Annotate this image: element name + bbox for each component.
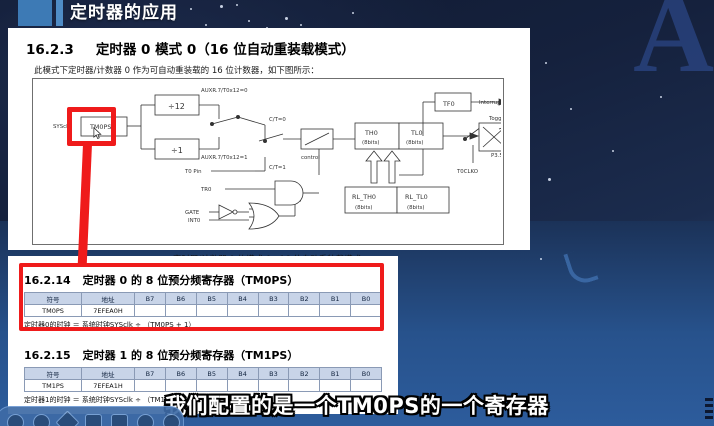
svg-text:(8bits): (8bits) [355, 205, 372, 211]
svg-text:(8bits): (8bits) [362, 140, 379, 146]
record-icon[interactable] [7, 414, 24, 426]
svg-text:T0CLKO: T0CLKO [456, 169, 478, 175]
screen-capture: A 定时器的应用 16.2.3定时器 0 模式 0（16 位自动重装载模式） 此… [0, 0, 714, 426]
svg-text:÷12: ÷12 [168, 102, 185, 111]
svg-text:T0 Pin: T0 Pin [184, 169, 201, 175]
marker-icon[interactable] [55, 410, 79, 426]
col-b1: B1 [320, 368, 351, 380]
svg-text:RL_TH0: RL_TH0 [352, 193, 376, 201]
svg-text:TL0: TL0 [410, 129, 423, 137]
diagram-svg: SYSclk TM0PS ÷12 ÷1 AUXR.7/T0x12=0 AUXR.… [33, 79, 501, 242]
annotation-box-tm0ps [67, 107, 116, 146]
svg-text:RL_TL0: RL_TL0 [405, 193, 428, 201]
svg-text:INT0: INT0 [188, 218, 201, 224]
title-accent-bar [56, 0, 63, 26]
svg-text:TH0: TH0 [364, 129, 378, 137]
col-symbol: 符号 [25, 368, 82, 380]
pause-icon[interactable] [33, 414, 50, 426]
settings-icon[interactable] [163, 414, 180, 426]
register-table: 符号 地址 B7 B6 B5 B4 B3 B2 B1 B0 TM1PS 7EFE… [24, 367, 382, 392]
slide-title: 定时器的应用 [70, 1, 178, 25]
section-heading: 16.2.3定时器 0 模式 0（16 位自动重装载模式） [26, 38, 355, 58]
pen-icon[interactable] [137, 414, 154, 426]
scrollbar-marks[interactable] [705, 398, 713, 424]
screenshot-icon[interactable] [85, 414, 102, 426]
svg-text:TR0: TR0 [200, 187, 212, 193]
svg-text:GATE: GATE [185, 210, 200, 216]
svg-text:AUXR.7/T0x12=1: AUXR.7/T0x12=1 [201, 155, 248, 161]
timer-block-diagram: SYSclk TM0PS ÷12 ÷1 AUXR.7/T0x12=0 AUXR.… [32, 78, 504, 245]
register-heading: 16.2.15定时器 1 的 8 位预分频寄存器（TM1PS） [24, 347, 382, 363]
svg-text:AUXR.7/T0x12=0: AUXR.7/T0x12=0 [201, 88, 248, 94]
table-header-row: 符号 地址 B7 B6 B5 B4 B3 B2 B1 B0 [25, 368, 382, 380]
section-number: 16.2.3 [26, 42, 74, 58]
col-b7: B7 [135, 368, 166, 380]
svg-text:(8bits): (8bits) [406, 140, 423, 146]
col-b2: B2 [289, 368, 320, 380]
section-description: 此模式下定时器/计数器 0 作为可自动重装载的 16 位计数器，如下图所示： [34, 64, 319, 76]
svg-text:(8bits): (8bits) [407, 205, 424, 211]
slide-title-bar: 定时器的应用 [0, 0, 714, 26]
col-address: 地址 [82, 368, 135, 380]
svg-text:Toggle: Toggle [488, 116, 501, 122]
section-title: 定时器 0 模式 0（16 位自动重装载模式） [96, 42, 355, 58]
col-b5: B5 [196, 368, 227, 380]
annotation-box-register-table [19, 263, 384, 331]
col-b0: B0 [351, 368, 382, 380]
col-b6: B6 [165, 368, 196, 380]
svg-text:TF0: TF0 [442, 100, 455, 108]
col-b4: B4 [227, 368, 258, 380]
svg-text:C/T=1: C/T=1 [269, 165, 286, 171]
svg-text:C/T=0: C/T=0 [269, 117, 286, 123]
col-b3: B3 [258, 368, 289, 380]
svg-text:P3.5: P3.5 [491, 153, 501, 159]
title-accent-block [18, 0, 52, 26]
svg-text:control: control [301, 155, 320, 161]
register-title: 定时器 1 的 8 位预分频寄存器（TM1PS） [83, 349, 299, 362]
svg-text:Interrupt: Interrupt [479, 100, 501, 106]
svg-text:÷1: ÷1 [171, 146, 183, 155]
recorder-toolbar[interactable] [0, 406, 184, 426]
register-number: 16.2.15 [24, 349, 71, 362]
window-icon[interactable] [111, 414, 128, 426]
